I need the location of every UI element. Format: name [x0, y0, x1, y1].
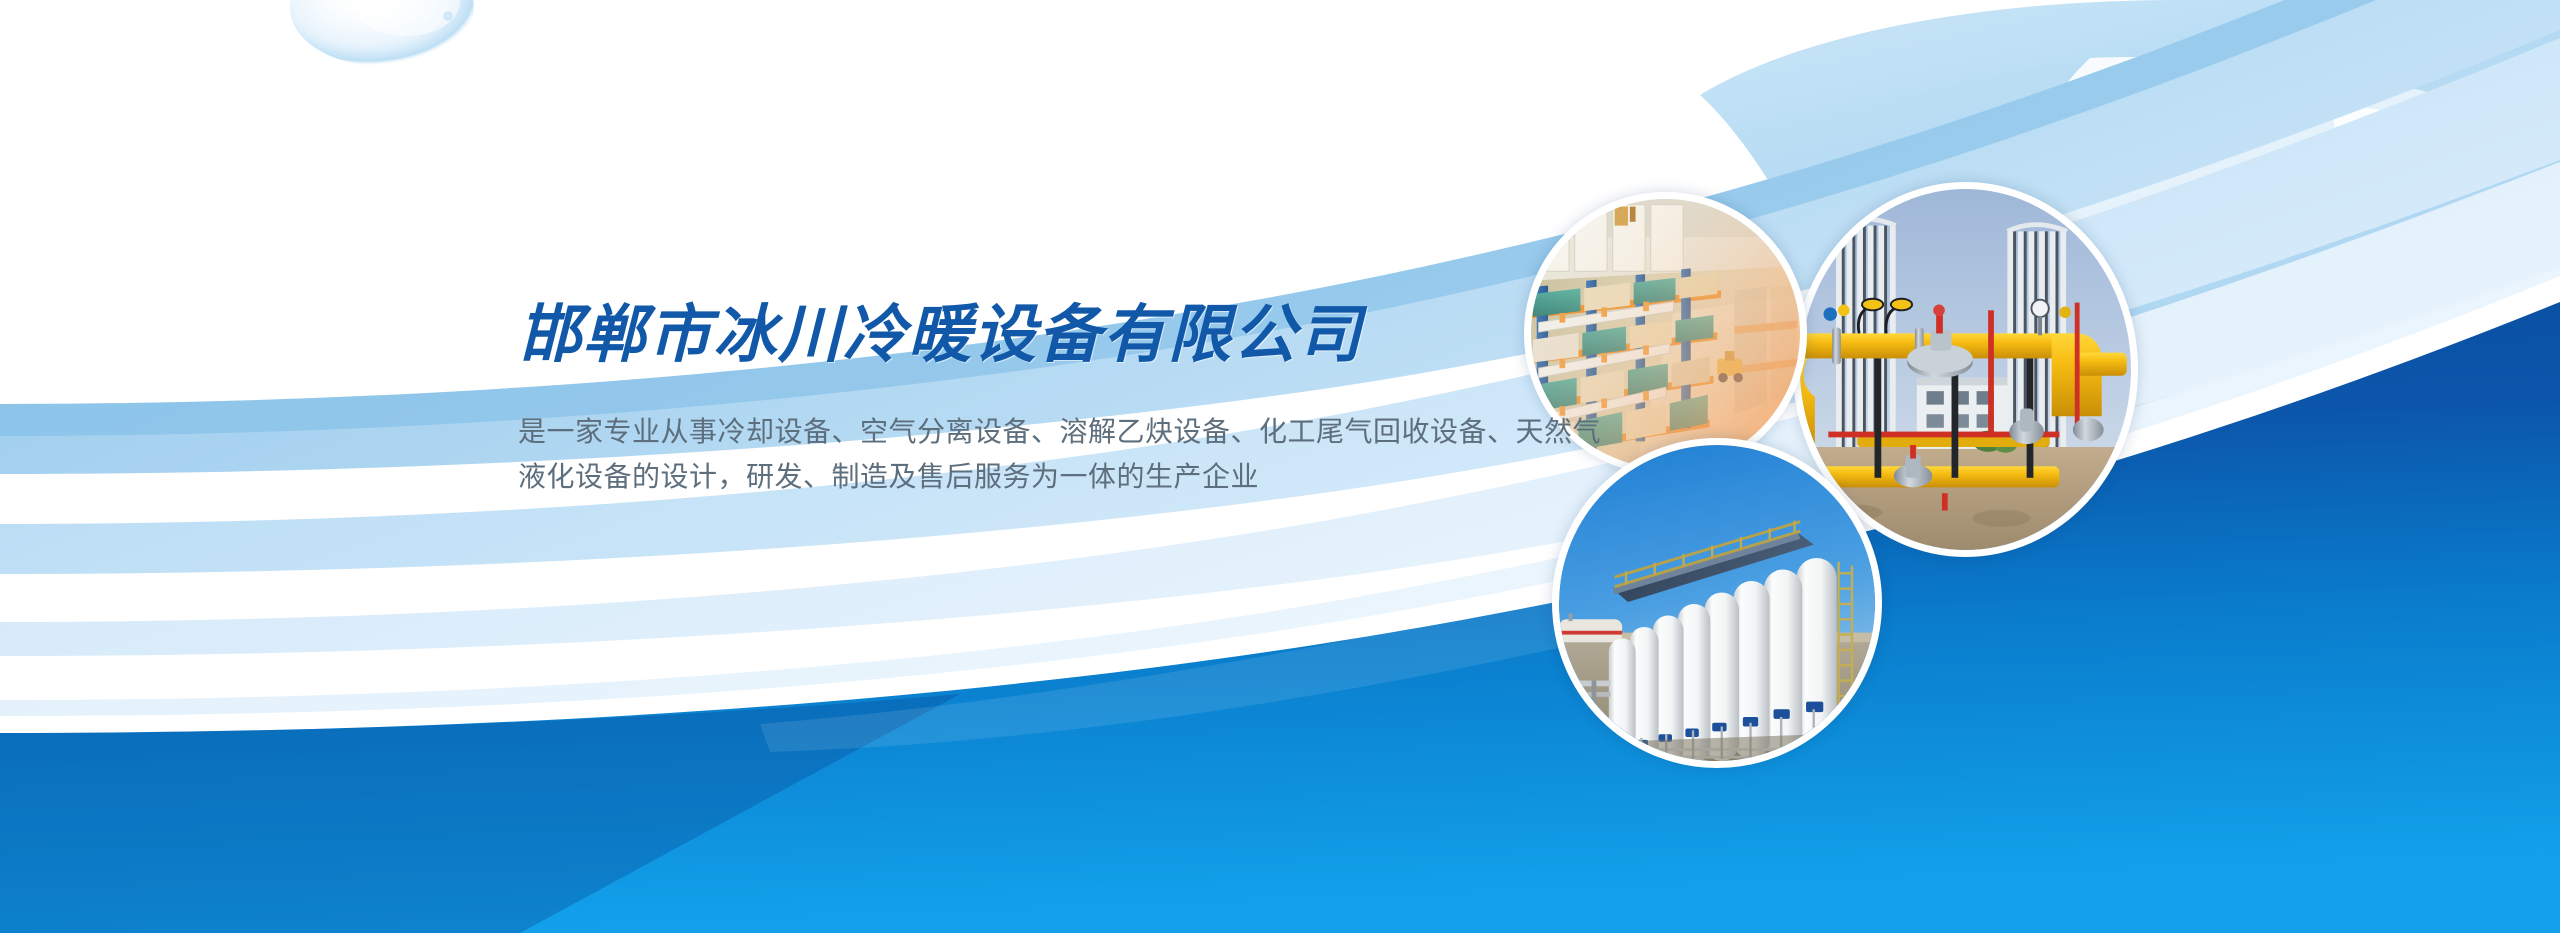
company-description: 是一家专业从事冷却设备、空气分离设备、溶解乙炔设备、化工尾气回收设备、天然气 液…: [518, 409, 1508, 500]
description-line-2: 液化设备的设计，研发、制造及售后服务为一体的生产企业: [518, 454, 1508, 499]
page-title: 邯郸市冰川冷暖设备有限公司: [518, 300, 1518, 371]
cryogenic-tanks-illustration: [1559, 445, 1875, 761]
photo-storage-tanks: [1552, 438, 1882, 768]
hero-text-block: 邯郸市冰川冷暖设备有限公司 是一家专业从事冷却设备、空气分离设备、溶解乙炔设备、…: [518, 300, 1518, 499]
description-line-1: 是一家专业从事冷却设备、空气分离设备、溶解乙炔设备、化工尾气回收设备、天然气: [518, 409, 1508, 454]
company-hero-banner: 邯郸市冰川冷暖设备有限公司 是一家专业从事冷却设备、空气分离设备、溶解乙炔设备、…: [0, 0, 2560, 933]
photo-storage-tanks-clip: [1559, 445, 1875, 761]
